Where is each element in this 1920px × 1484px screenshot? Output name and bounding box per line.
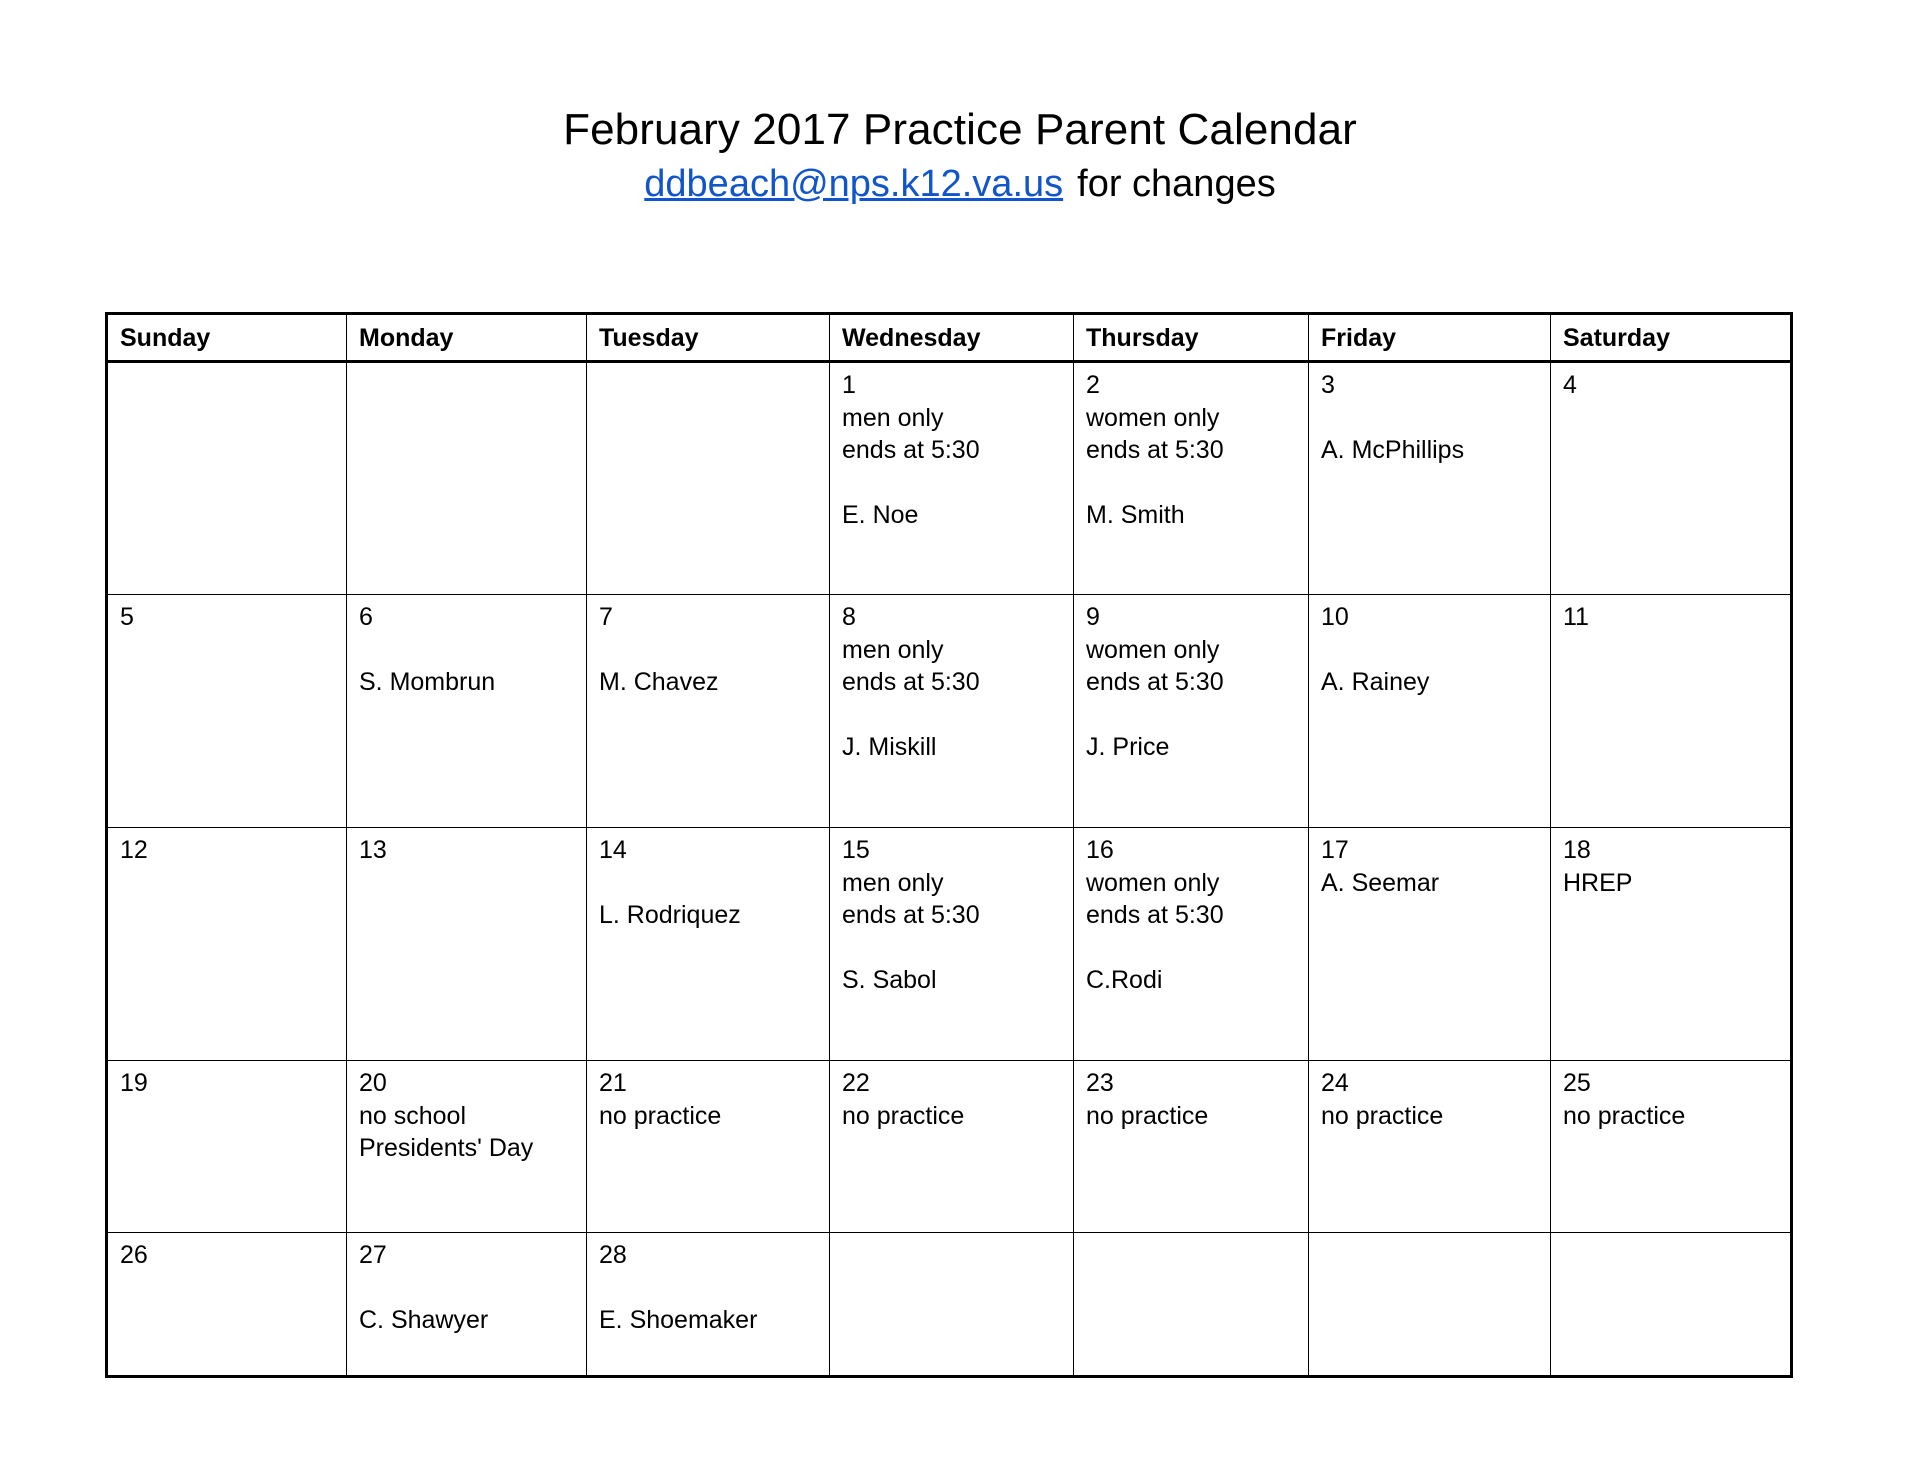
day-cell-empty xyxy=(347,362,587,595)
day-number: 1 xyxy=(842,369,1073,402)
day-cell-empty xyxy=(587,362,830,595)
day-number: 11 xyxy=(1563,601,1790,634)
day-cell-empty xyxy=(1551,1233,1792,1377)
page-header: February 2017 Practice Parent Calendar d… xyxy=(0,0,1920,207)
day-cell-1[interactable]: 1men onlyends at 5:30E. Noe xyxy=(830,362,1074,595)
calendar-page: February 2017 Practice Parent Calendar d… xyxy=(0,0,1920,1484)
day-note: E. Noe xyxy=(842,499,1073,532)
day-spacer xyxy=(359,634,586,666)
day-number: 9 xyxy=(1086,601,1308,634)
day-note: no practice xyxy=(1563,1100,1790,1133)
day-number: 24 xyxy=(1321,1067,1550,1100)
weekday-header-label: Monday xyxy=(359,324,453,352)
day-cell-19[interactable]: 19 xyxy=(107,1061,347,1233)
day-cell-16[interactable]: 16women onlyends at 5:30C.Rodi xyxy=(1074,828,1309,1061)
day-number: 25 xyxy=(1563,1067,1790,1100)
day-number: 16 xyxy=(1086,834,1308,867)
day-note: no practice xyxy=(599,1100,829,1133)
day-cell-15[interactable]: 15men onlyends at 5:30S. Sabol xyxy=(830,828,1074,1061)
day-spacer xyxy=(1321,402,1550,434)
day-number: 6 xyxy=(359,601,586,634)
weekday-header-wednesday: Wednesday xyxy=(830,314,1074,362)
calendar-week-row: 1920no schoolPresidents' Day21no practic… xyxy=(107,1061,1792,1233)
weekday-header-label: Wednesday xyxy=(842,324,980,352)
day-number: 26 xyxy=(120,1239,346,1272)
day-cell-8[interactable]: 8men onlyends at 5:30J. Miskill xyxy=(830,595,1074,828)
day-number: 10 xyxy=(1321,601,1550,634)
contact-email-link[interactable]: ddbeach@nps.k12.va.us xyxy=(644,163,1063,205)
day-cell-6[interactable]: 6S. Mombrun xyxy=(347,595,587,828)
weekday-header-thursday: Thursday xyxy=(1074,314,1309,362)
day-note: A. McPhillips xyxy=(1321,434,1550,467)
day-number: 8 xyxy=(842,601,1073,634)
day-note: ends at 5:30 xyxy=(1086,434,1308,467)
day-number: 5 xyxy=(120,601,346,634)
day-note: HREP xyxy=(1563,867,1790,900)
day-number: 20 xyxy=(359,1067,586,1100)
day-number: 3 xyxy=(1321,369,1550,402)
day-note: J. Price xyxy=(1086,731,1308,764)
day-note: no practice xyxy=(842,1100,1073,1133)
day-note: Presidents' Day xyxy=(359,1132,586,1165)
day-note: ends at 5:30 xyxy=(842,434,1073,467)
day-spacer xyxy=(842,932,1073,964)
day-cell-26[interactable]: 26 xyxy=(107,1233,347,1377)
day-spacer xyxy=(1086,932,1308,964)
day-cell-13[interactable]: 13 xyxy=(347,828,587,1061)
weekday-header-row: SundayMondayTuesdayWednesdayThursdayFrid… xyxy=(107,314,1792,362)
day-cell-3[interactable]: 3A. McPhillips xyxy=(1309,362,1551,595)
day-note: L. Rodriquez xyxy=(599,899,829,932)
day-cell-10[interactable]: 10A. Rainey xyxy=(1309,595,1551,828)
day-note: men only xyxy=(842,634,1073,667)
day-spacer xyxy=(1321,634,1550,666)
calendar-week-row: 56S. Mombrun7M. Chavez8men onlyends at 5… xyxy=(107,595,1792,828)
day-number: 23 xyxy=(1086,1067,1308,1100)
weekday-header-label: Thursday xyxy=(1086,324,1199,352)
day-note: women only xyxy=(1086,634,1308,667)
calendar-week-row: 121314L. Rodriquez15men onlyends at 5:30… xyxy=(107,828,1792,1061)
day-note: no practice xyxy=(1321,1100,1550,1133)
day-number: 17 xyxy=(1321,834,1550,867)
day-cell-empty xyxy=(830,1233,1074,1377)
weekday-header-label: Sunday xyxy=(120,324,210,352)
day-number: 28 xyxy=(599,1239,829,1272)
day-cell-7[interactable]: 7M. Chavez xyxy=(587,595,830,828)
calendar-table: SundayMondayTuesdayWednesdayThursdayFrid… xyxy=(105,312,1793,1378)
day-number: 27 xyxy=(359,1239,586,1272)
day-cell-4[interactable]: 4 xyxy=(1551,362,1792,595)
weekday-header-friday: Friday xyxy=(1309,314,1551,362)
day-cell-12[interactable]: 12 xyxy=(107,828,347,1061)
day-note: C. Shawyer xyxy=(359,1304,586,1337)
day-spacer xyxy=(599,867,829,899)
day-number: 21 xyxy=(599,1067,829,1100)
day-note: men only xyxy=(842,867,1073,900)
day-cell-9[interactable]: 9women onlyends at 5:30J. Price xyxy=(1074,595,1309,828)
day-note: M. Chavez xyxy=(599,666,829,699)
day-cell-23[interactable]: 23no practice xyxy=(1074,1061,1309,1233)
day-note: ends at 5:30 xyxy=(842,666,1073,699)
day-note: A. Seemar xyxy=(1321,867,1550,900)
day-note: ends at 5:30 xyxy=(842,899,1073,932)
day-note: A. Rainey xyxy=(1321,666,1550,699)
weekday-header-label: Tuesday xyxy=(599,324,699,352)
calendar-table-wrapper: SundayMondayTuesdayWednesdayThursdayFrid… xyxy=(105,312,1790,1378)
weekday-header-sunday: Sunday xyxy=(107,314,347,362)
day-spacer xyxy=(599,634,829,666)
day-spacer xyxy=(842,699,1073,731)
day-cell-14[interactable]: 14L. Rodriquez xyxy=(587,828,830,1061)
contact-note: for changes xyxy=(1077,163,1276,205)
day-cell-empty xyxy=(1074,1233,1309,1377)
day-number: 13 xyxy=(359,834,586,867)
day-number: 4 xyxy=(1563,369,1790,402)
day-number: 7 xyxy=(599,601,829,634)
day-note: J. Miskill xyxy=(842,731,1073,764)
contact-line: ddbeach@nps.k12.va.usfor changes xyxy=(0,162,1920,207)
day-spacer xyxy=(842,467,1073,499)
day-cell-17[interactable]: 17A. Seemar xyxy=(1309,828,1551,1061)
day-note: women only xyxy=(1086,402,1308,435)
day-spacer xyxy=(1086,467,1308,499)
day-note: S. Mombrun xyxy=(359,666,586,699)
day-number: 15 xyxy=(842,834,1073,867)
weekday-header-label: Friday xyxy=(1321,324,1396,352)
day-note: M. Smith xyxy=(1086,499,1308,532)
day-note: ends at 5:30 xyxy=(1086,899,1308,932)
day-note: ends at 5:30 xyxy=(1086,666,1308,699)
day-cell-27[interactable]: 27C. Shawyer xyxy=(347,1233,587,1377)
calendar-week-row: 1men onlyends at 5:30E. Noe2women onlyen… xyxy=(107,362,1792,595)
day-cell-20[interactable]: 20no schoolPresidents' Day xyxy=(347,1061,587,1233)
day-number: 2 xyxy=(1086,369,1308,402)
day-spacer xyxy=(599,1272,829,1304)
weekday-header-monday: Monday xyxy=(347,314,587,362)
day-cell-18[interactable]: 18HREP xyxy=(1551,828,1792,1061)
weekday-header-saturday: Saturday xyxy=(1551,314,1792,362)
day-number: 22 xyxy=(842,1067,1073,1100)
day-note: C.Rodi xyxy=(1086,964,1308,997)
day-note: no practice xyxy=(1086,1100,1308,1133)
day-cell-5[interactable]: 5 xyxy=(107,595,347,828)
weekday-header-tuesday: Tuesday xyxy=(587,314,830,362)
day-note: E. Shoemaker xyxy=(599,1304,829,1337)
day-spacer xyxy=(359,1272,586,1304)
day-cell-28[interactable]: 28E. Shoemaker xyxy=(587,1233,830,1377)
day-cell-11[interactable]: 11 xyxy=(1551,595,1792,828)
calendar-week-row: 2627C. Shawyer28E. Shoemaker xyxy=(107,1233,1792,1377)
day-spacer xyxy=(1086,699,1308,731)
day-number: 12 xyxy=(120,834,346,867)
day-number: 18 xyxy=(1563,834,1790,867)
page-title: February 2017 Practice Parent Calendar xyxy=(0,104,1920,156)
day-note: no school xyxy=(359,1100,586,1133)
day-cell-24[interactable]: 24no practice xyxy=(1309,1061,1551,1233)
weekday-header-label: Saturday xyxy=(1563,324,1670,352)
day-note: S. Sabol xyxy=(842,964,1073,997)
day-cell-22[interactable]: 22no practice xyxy=(830,1061,1074,1233)
day-cell-empty xyxy=(1309,1233,1551,1377)
day-note: women only xyxy=(1086,867,1308,900)
day-cell-2[interactable]: 2women onlyends at 5:30M. Smith xyxy=(1074,362,1309,595)
day-number: 14 xyxy=(599,834,829,867)
day-note: men only xyxy=(842,402,1073,435)
day-cell-21[interactable]: 21no practice xyxy=(587,1061,830,1233)
day-cell-25[interactable]: 25no practice xyxy=(1551,1061,1792,1233)
day-cell-empty xyxy=(107,362,347,595)
day-number: 19 xyxy=(120,1067,346,1100)
